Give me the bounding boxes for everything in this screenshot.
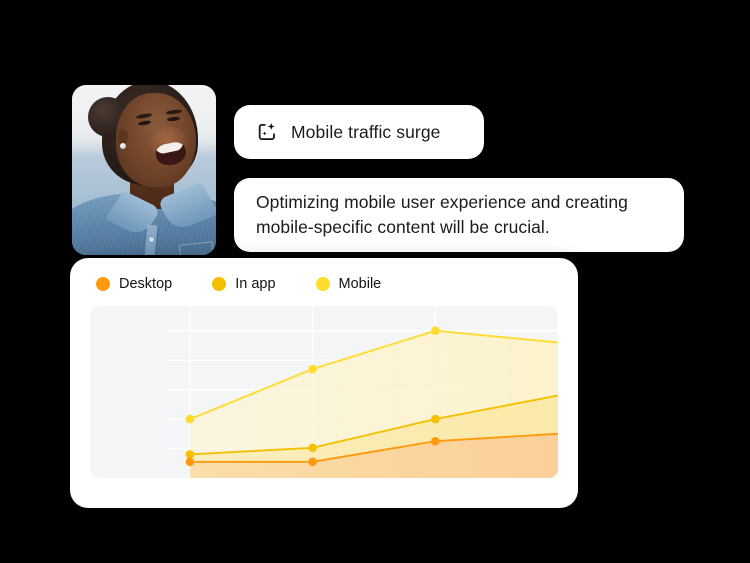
- ear: [118, 129, 128, 144]
- legend-item-mobile[interactable]: Mobile: [316, 276, 382, 292]
- insight-body-bubble[interactable]: Optimizing mobile user experience and cr…: [234, 178, 684, 252]
- shirt-pocket: [179, 241, 216, 255]
- legend-label-desktop: Desktop: [119, 276, 172, 292]
- legend-dot-desktop: [96, 277, 110, 291]
- legend-label-in-app: In app: [235, 276, 275, 292]
- legend-dot-mobile: [316, 277, 330, 291]
- shirt-button: [149, 237, 154, 242]
- screenshot-stage: Mobile traffic surge Optimizing mobile u…: [0, 0, 750, 563]
- insight-title-bubble[interactable]: Mobile traffic surge: [234, 105, 484, 159]
- legend-item-desktop[interactable]: Desktop: [96, 276, 172, 292]
- earring: [120, 143, 126, 149]
- y-axis-labels: 2,000,0004,000,0006,000,0008,000,00010,0…: [90, 306, 190, 478]
- portrait-photo: [72, 85, 216, 255]
- insight-body-text: Optimizing mobile user experience and cr…: [256, 190, 662, 240]
- traffic-chart-card: Desktop In app Mobile 2,000,0004,000,000…: [70, 258, 578, 508]
- legend-label-mobile: Mobile: [339, 276, 382, 292]
- legend-dot-in-app: [212, 277, 226, 291]
- legend-item-in-app[interactable]: In app: [212, 276, 275, 292]
- insight-title-text: Mobile traffic surge: [291, 122, 441, 143]
- ai-sparkle-icon: [256, 121, 278, 143]
- chart-legend: Desktop In app Mobile: [90, 276, 558, 292]
- chart-plot-area[interactable]: 2,000,0004,000,0006,000,0008,000,00010,0…: [90, 306, 558, 478]
